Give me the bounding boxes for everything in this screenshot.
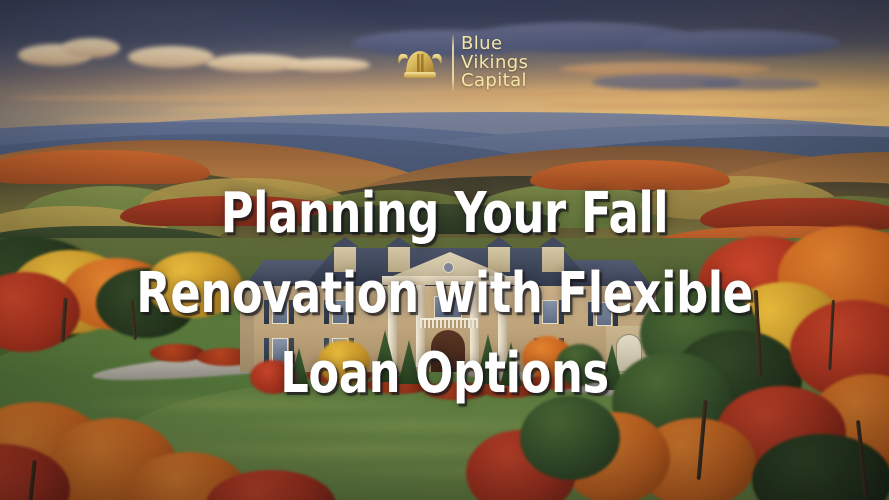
logo-divider <box>452 35 454 91</box>
cloud <box>640 30 840 56</box>
brand-logo[interactable]: Blue Vikings Capital <box>395 32 525 94</box>
viking-helmet-icon <box>395 38 445 88</box>
cloud <box>286 58 370 72</box>
cloud <box>700 78 820 90</box>
sky-streak <box>540 104 880 108</box>
page-title: Planning Your Fall Renovation with Flexi… <box>0 174 889 414</box>
sky-streak <box>10 96 310 100</box>
brand-wordmark: Blue Vikings Capital <box>461 35 528 90</box>
headline-line-2: Renovation with Flexible <box>89 254 800 334</box>
hero-banner: Blue Vikings Capital Planning Your Fall … <box>0 0 889 500</box>
headline-line-3: Loan Options <box>89 334 800 414</box>
cloud <box>128 46 214 68</box>
headline-line-1: Planning Your Fall <box>89 174 800 254</box>
brand-line-3: Capital <box>461 72 528 90</box>
cloud <box>62 38 120 58</box>
